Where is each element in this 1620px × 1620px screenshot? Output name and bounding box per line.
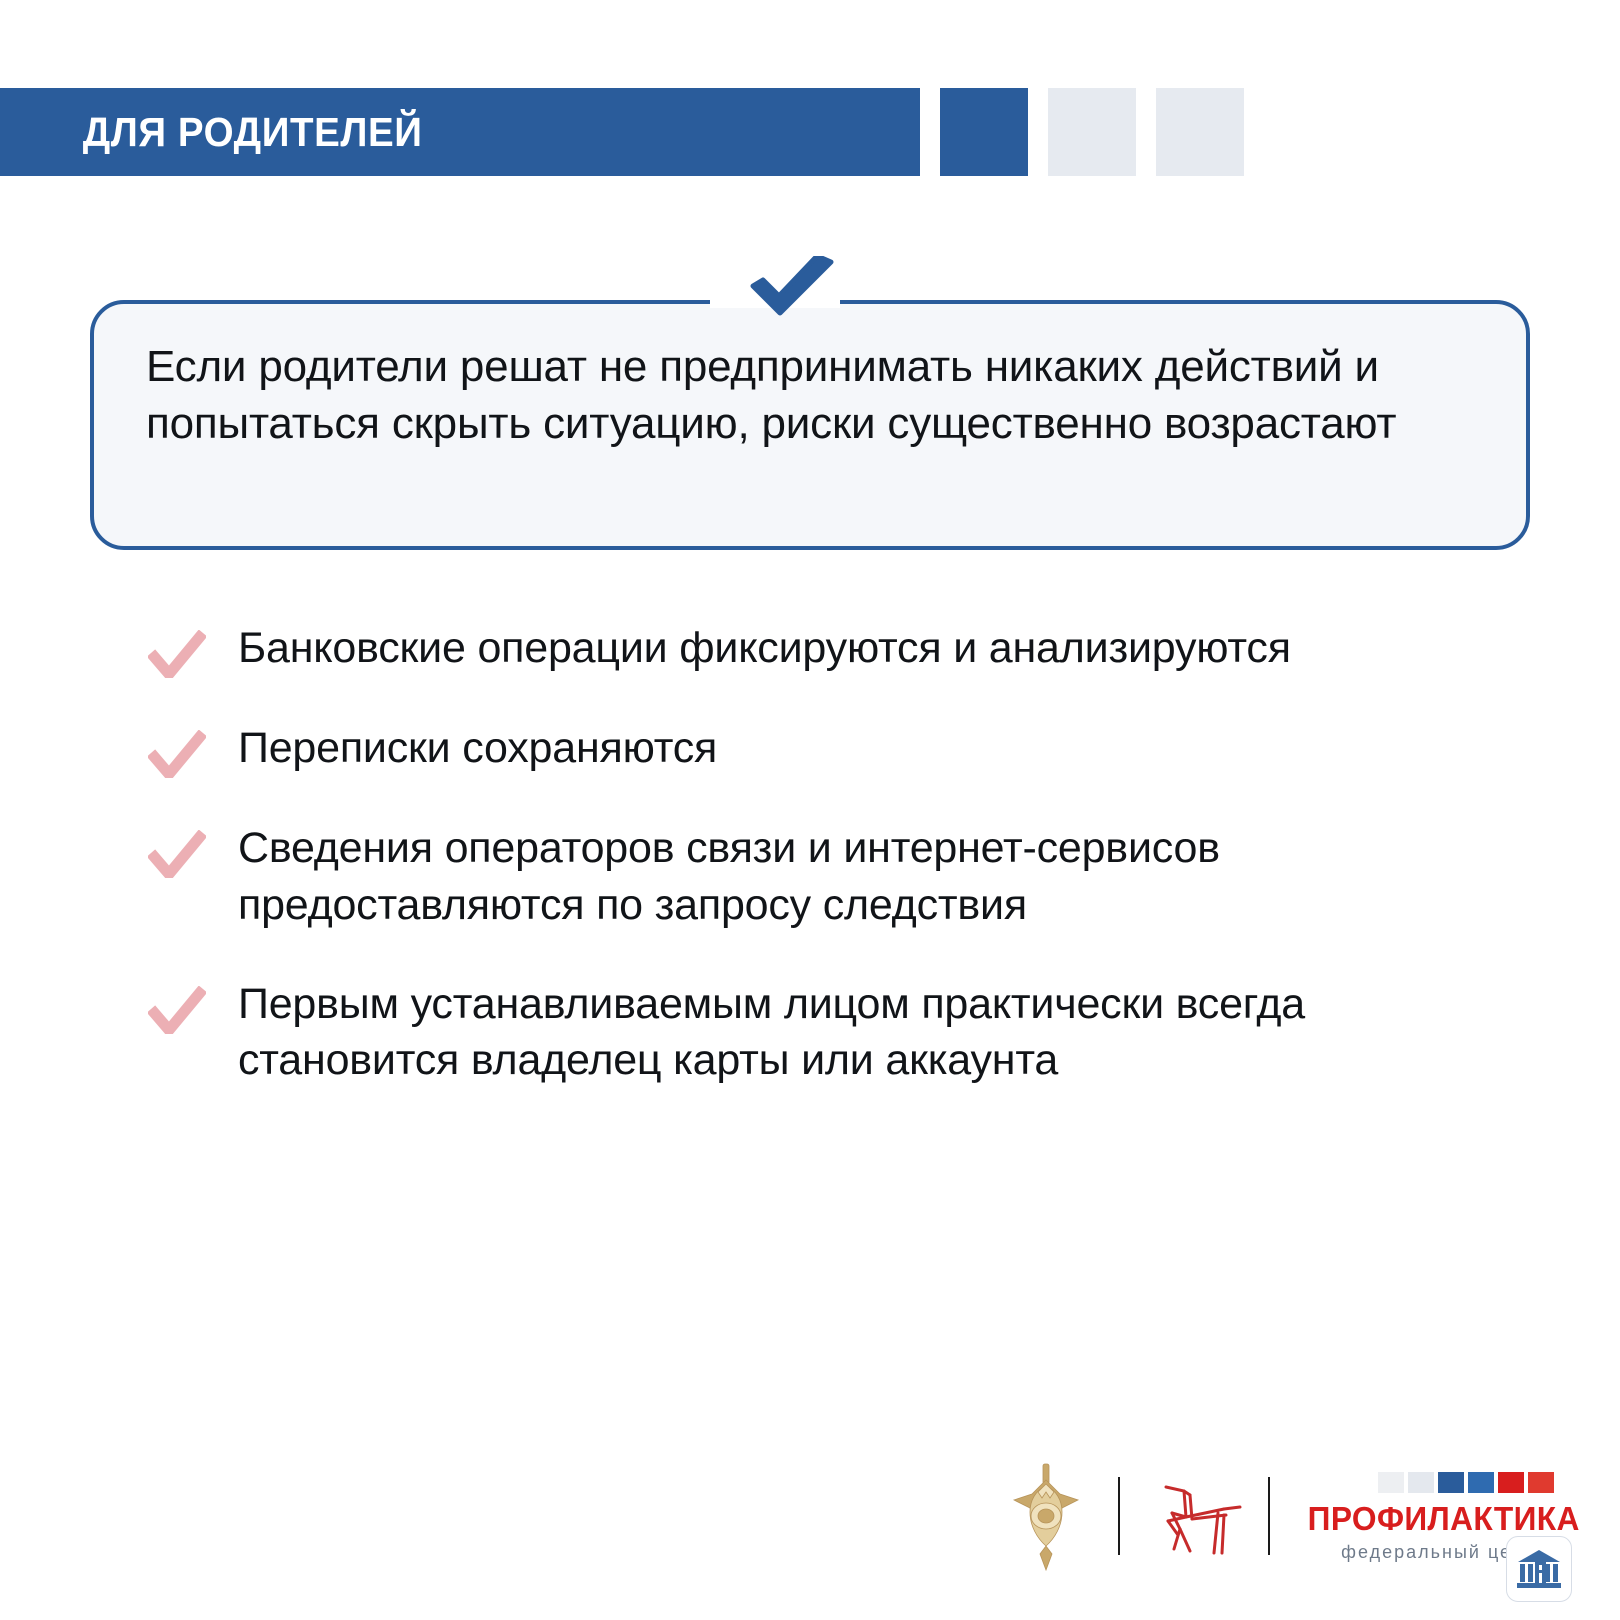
header: ДЛЯ РОДИТЕЛЕЙ xyxy=(0,88,1620,176)
building-columns-icon xyxy=(1515,1545,1563,1593)
pk-building-badge-icon xyxy=(1506,1536,1572,1602)
logo-square-2 xyxy=(1408,1472,1434,1493)
footer-divider xyxy=(1118,1477,1120,1555)
logo-color-squares xyxy=(1378,1472,1554,1493)
logo-name: ПРОФИЛАКТИКА xyxy=(1308,1502,1580,1535)
footer: ПРОФИЛАКТИКА федеральный центр xyxy=(1000,1452,1540,1580)
list-item-label: Банковские операции фиксируются и анализ… xyxy=(238,620,1291,677)
header-bar: ДЛЯ РОДИТЕЛЕЙ xyxy=(0,88,920,176)
check-mark-icon xyxy=(747,256,837,322)
logo-square-4 xyxy=(1468,1472,1494,1493)
logo-square-5 xyxy=(1498,1472,1524,1493)
footer-divider xyxy=(1268,1477,1270,1555)
header-accent-square-1 xyxy=(940,88,1028,176)
investigative-committee-emblem-icon xyxy=(1000,1460,1092,1572)
bullet-list: Банковские операции фиксируются и анализ… xyxy=(148,620,1548,1131)
check-mark-icon xyxy=(148,986,206,1034)
logo-square-1 xyxy=(1378,1472,1404,1493)
logo-square-6 xyxy=(1528,1472,1554,1493)
check-mark-icon xyxy=(148,630,206,678)
header-accent-square-2 xyxy=(1048,88,1136,176)
list-item: Переписки сохраняются xyxy=(148,720,1548,778)
callout-box: Если родители решат не предпринимать ник… xyxy=(90,300,1530,550)
check-mark-icon xyxy=(148,830,206,878)
list-item: Первым устанавливаемым лицом практически… xyxy=(148,976,1548,1090)
callout-text: Если родители решат не предпринимать ник… xyxy=(146,338,1474,452)
red-horse-line-art-icon xyxy=(1146,1473,1242,1559)
list-item: Сведения операторов связи и интернет-сер… xyxy=(148,820,1548,934)
list-item: Банковские операции фиксируются и анализ… xyxy=(148,620,1548,678)
list-item-label: Переписки сохраняются xyxy=(238,720,717,777)
list-item-label: Сведения операторов связи и интернет-сер… xyxy=(238,820,1528,934)
check-mark-icon xyxy=(148,730,206,778)
page-title: ДЛЯ РОДИТЕЛЕЙ xyxy=(0,112,422,153)
header-accent-square-3 xyxy=(1156,88,1244,176)
logo-square-3 xyxy=(1438,1472,1464,1493)
list-item-label: Первым устанавливаемым лицом практически… xyxy=(238,976,1528,1090)
poster-page: ДЛЯ РОДИТЕЛЕЙ Если родители решат не пре… xyxy=(0,0,1620,1620)
